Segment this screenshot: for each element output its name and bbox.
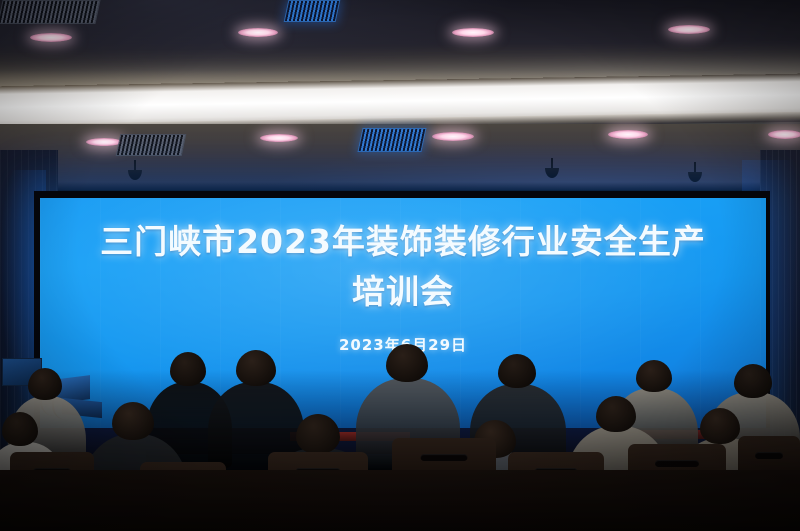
ceiling-downlight bbox=[432, 132, 474, 141]
ceiling-downlight bbox=[260, 134, 298, 142]
ceiling-air-vent bbox=[0, 0, 101, 24]
ceiling-downlight bbox=[452, 28, 494, 37]
chair-back-slot bbox=[755, 452, 783, 459]
ceiling-air-vent bbox=[116, 134, 187, 156]
stage-accent-left bbox=[290, 432, 410, 441]
led-screen: 三门峡市2023年装饰装修行业安全生产 培训会 2023年6月29日 bbox=[40, 198, 766, 432]
chair-back-slot bbox=[655, 460, 699, 467]
slide-date: 2023年6月29日 bbox=[339, 334, 467, 355]
conference-hall-photo: 三门峡市2023年装饰装修行业安全生产 培训会 2023年6月29日 bbox=[0, 0, 800, 531]
slide-content: 三门峡市2023年装饰装修行业安全生产 培训会 2023年6月29日 bbox=[40, 198, 766, 432]
ceiling-downlight bbox=[238, 28, 278, 37]
chair-back-slot bbox=[421, 454, 468, 461]
ceiling-downlight bbox=[668, 25, 710, 34]
hall-floor bbox=[0, 470, 800, 531]
ceiling-downlight bbox=[768, 130, 800, 139]
stage-accent-right bbox=[640, 430, 710, 439]
slide-title-line-2: 培训会 bbox=[352, 272, 454, 312]
slide-title-line-1: 三门峡市2023年装饰装修行业安全生产 bbox=[100, 222, 706, 262]
ceiling-air-vent bbox=[357, 128, 426, 152]
av-cable-2 bbox=[52, 380, 76, 420]
ceiling-downlight bbox=[86, 138, 122, 146]
ceiling-downlight bbox=[608, 130, 648, 139]
ceiling-downlight bbox=[30, 33, 72, 42]
av-monitor bbox=[2, 358, 42, 386]
ceiling-air-vent bbox=[284, 0, 341, 22]
